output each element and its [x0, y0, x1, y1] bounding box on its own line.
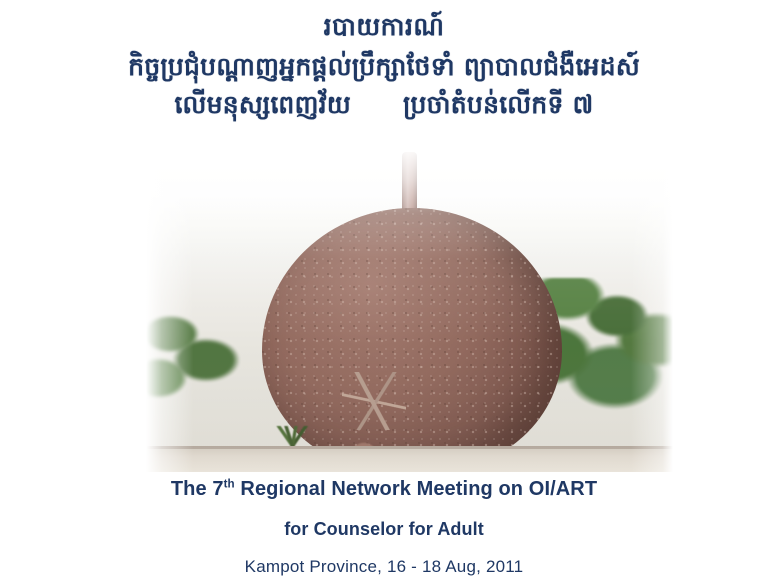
- pavement-ground: [146, 446, 673, 472]
- khmer-heading-line-3-right: ប្រចាំតំបន់លើកទី ៧: [403, 90, 593, 119]
- english-caption-block: The 7th Regional Network Meeting on OI/A…: [0, 478, 768, 577]
- khmer-heading-line-1: របាយការណ៍: [0, 14, 768, 40]
- caption-ordinal-suffix: th: [224, 477, 235, 490]
- khmer-heading-line-2: កិច្ចប្រជុំបណ្តាញអ្នកផ្តល់ប្រឹក្សាថែទាំ …: [0, 54, 768, 80]
- caption-venue-date: Kampot Province, 16 - 18 Aug, 2011: [0, 557, 768, 577]
- caption-subtitle: for Counselor for Adult: [0, 519, 768, 540]
- caption-title-prefix: The 7: [171, 478, 224, 500]
- caption-meeting-title: The 7th Regional Network Meeting on OI/A…: [0, 478, 768, 501]
- khmer-heading-line-3-left: លើមនុស្សពេញវ័យ: [175, 90, 351, 119]
- khmer-heading-line-3: លើមនុស្សពេញវ័យប្រចាំតំបន់លើកទី ៧: [0, 92, 768, 118]
- khmer-heading-block: របាយការណ៍ កិច្ចប្រជុំបណ្តាញអ្នកផ្តល់ប្រឹ…: [0, 14, 768, 118]
- title-slide: របាយការណ៍ កិច្ចប្រជុំបណ្តាញអ្នកផ្តល់ប្រឹ…: [0, 0, 768, 584]
- tree-foliage-left: [146, 308, 256, 418]
- kampot-durian-monument-photo: [146, 150, 673, 472]
- caption-title-rest: Regional Network Meeting on OI/ART: [235, 478, 597, 500]
- photo-canvas: [146, 150, 673, 472]
